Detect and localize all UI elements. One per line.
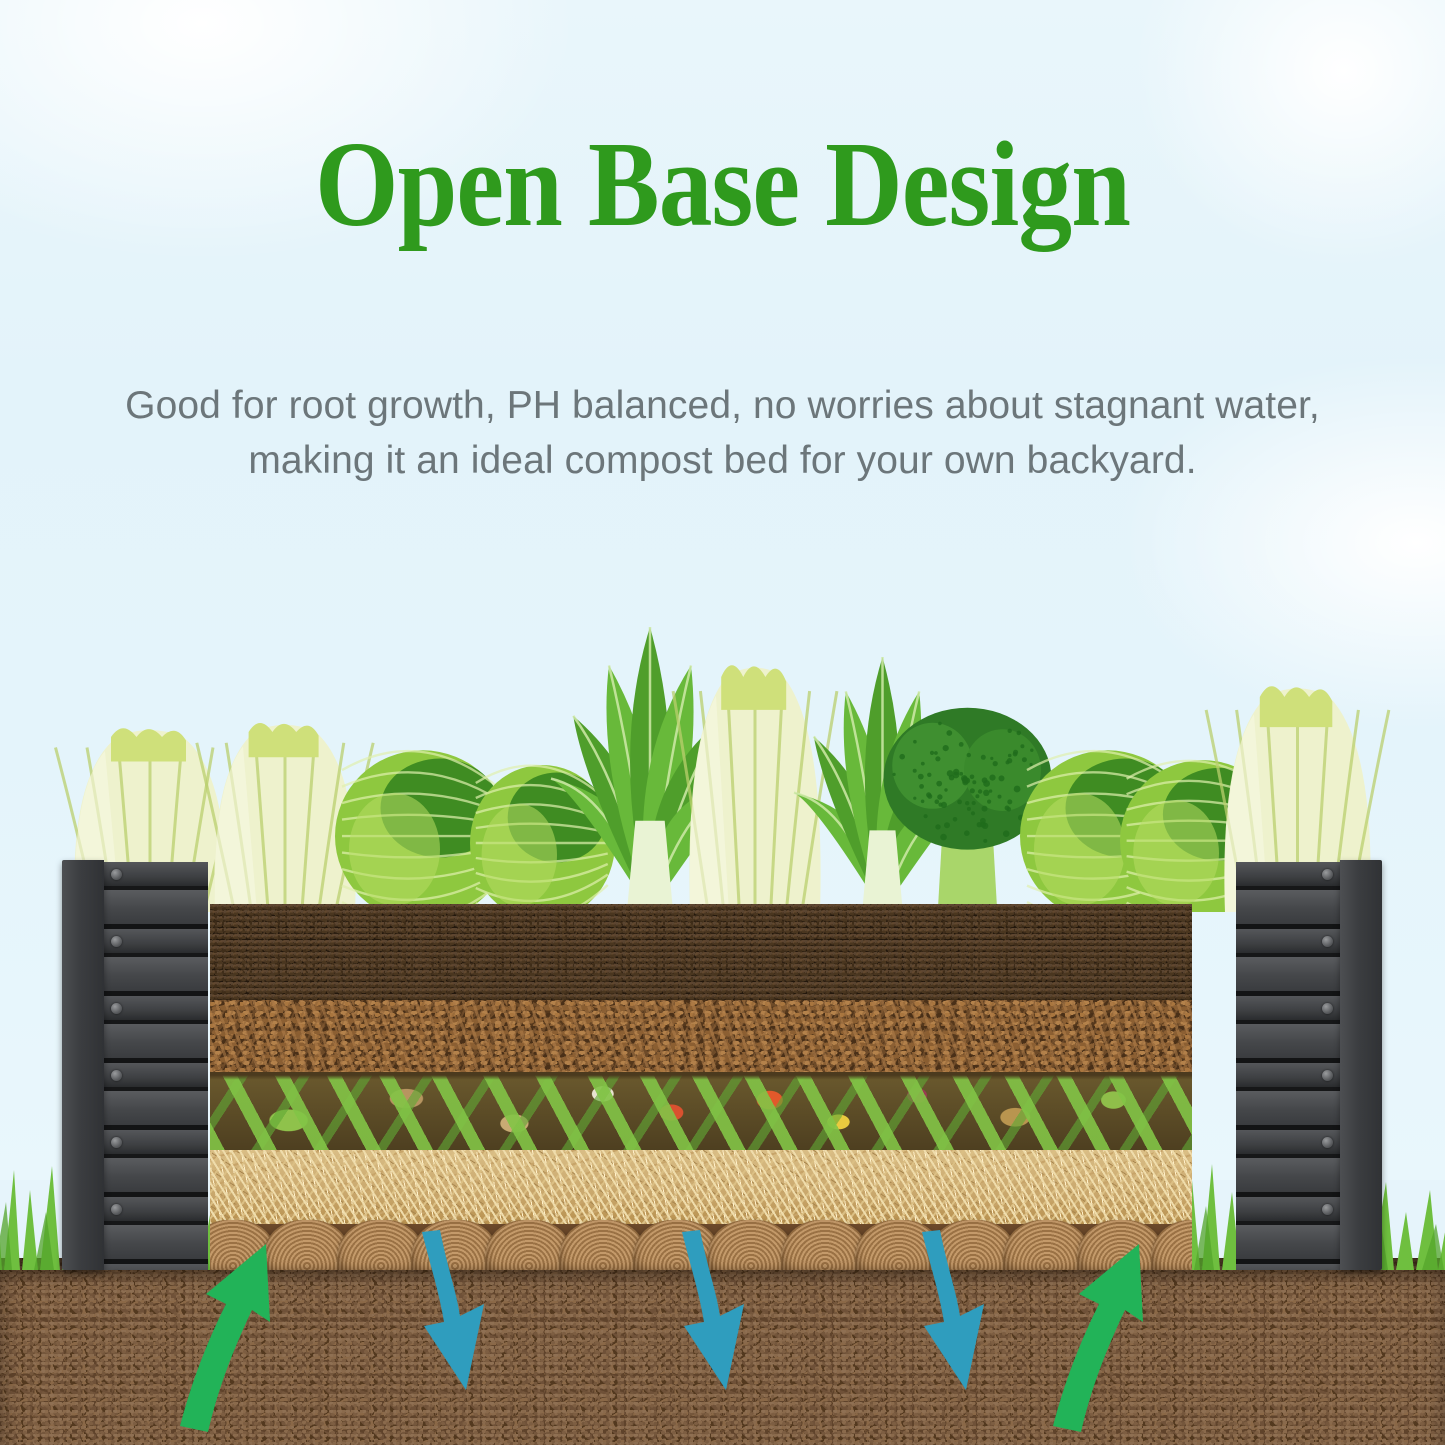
planter-slat-rail — [1236, 1130, 1342, 1158]
drainage-arrow-down — [922, 1230, 984, 1390]
subtitle-line-2: making it an ideal compost bed for your … — [58, 433, 1388, 488]
planter-slat-panel — [102, 890, 208, 929]
flow-arrows — [0, 1230, 1445, 1445]
page-subtitle: Good for root growth, PH balanced, no wo… — [58, 378, 1388, 489]
drainage-arrow-down — [422, 1230, 484, 1390]
planter-slat-rail — [1236, 996, 1342, 1024]
compost-cross-section — [210, 904, 1192, 1270]
planter-slats-right — [1236, 862, 1342, 1270]
screw-icon — [1322, 869, 1333, 880]
corner-column-left — [62, 860, 104, 1270]
planter-slat-rail — [102, 1197, 208, 1225]
planter-slat-panel — [102, 1091, 208, 1130]
planter-slat-panel — [102, 1158, 208, 1197]
infographic-canvas: Open Base Design Good for root growth, P… — [0, 0, 1445, 1445]
screw-icon — [111, 1204, 122, 1215]
planter-slat-panel — [1236, 957, 1342, 996]
planter-slat-rail — [102, 929, 208, 957]
aeration-arrow-up — [1053, 1244, 1143, 1432]
straw-layer — [210, 1150, 1192, 1224]
screw-icon — [111, 936, 122, 947]
screw-icon — [111, 1137, 122, 1148]
kitchen-scraps-layer — [210, 1072, 1192, 1150]
planter-slat-panel — [1236, 1158, 1342, 1197]
planter-slat-panel — [1236, 890, 1342, 929]
planter-slat-rail — [102, 862, 208, 890]
planter-slats-left — [102, 862, 208, 1270]
aeration-arrow-up — [180, 1244, 270, 1432]
screw-icon — [111, 869, 122, 880]
planter-slat-rail — [1236, 1197, 1342, 1225]
planter-slat-panel — [102, 957, 208, 996]
planter-slat-rail — [102, 1130, 208, 1158]
page-title: Open Base Design — [87, 122, 1359, 248]
planter-slat-rail — [102, 1063, 208, 1091]
planter-slat-rail — [1236, 1063, 1342, 1091]
screw-icon — [1322, 1070, 1333, 1081]
planter-post-right — [1236, 862, 1382, 1270]
raised-garden-bed — [62, 862, 1382, 1270]
topsoil-layer — [210, 904, 1192, 1000]
planter-slat-panel — [1236, 1024, 1342, 1063]
planter-slat-panel — [1236, 1091, 1342, 1130]
screw-icon — [1322, 1204, 1333, 1215]
screw-icon — [1322, 1137, 1333, 1148]
screw-icon — [111, 1003, 122, 1014]
screw-icon — [111, 1070, 122, 1081]
drainage-arrow-down — [682, 1230, 744, 1390]
planter-slat-rail — [1236, 862, 1342, 890]
bark-mulch-layer — [210, 1000, 1192, 1072]
planter-slat-rail — [1236, 929, 1342, 957]
planter-post-left — [62, 862, 208, 1270]
subtitle-line-1: Good for root growth, PH balanced, no wo… — [58, 378, 1388, 433]
corner-column-right — [1340, 860, 1382, 1270]
planter-slat-rail — [102, 996, 208, 1024]
screw-icon — [1322, 1003, 1333, 1014]
screw-icon — [1322, 936, 1333, 947]
planter-slat-panel — [102, 1024, 208, 1063]
arrow-illustrations — [0, 1230, 1445, 1445]
